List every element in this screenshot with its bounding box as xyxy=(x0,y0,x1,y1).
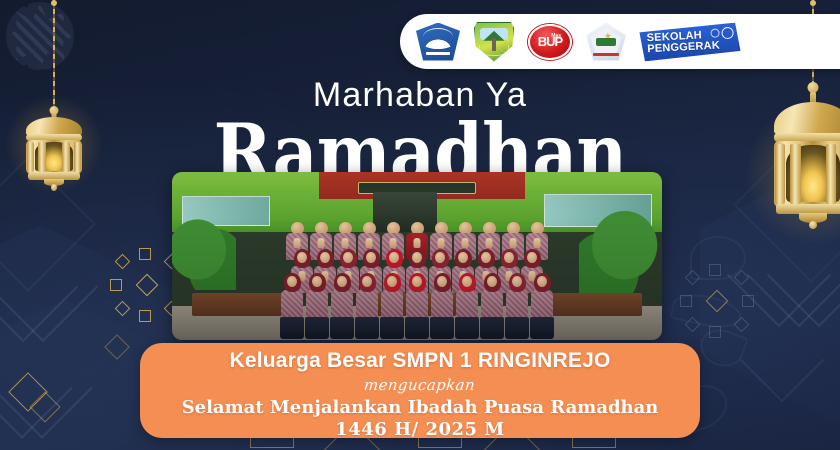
greeting-message-box: Keluarga Besar SMPN 1 RINGINREJO menguca… xyxy=(140,343,700,438)
greeting-line-school: Keluarga Besar SMPN 1 RINGINREJO xyxy=(229,348,610,374)
bg-gold-diamond-1 xyxy=(8,372,48,412)
bg-chevron-4 xyxy=(740,318,825,403)
islamic-star-motif-right xyxy=(678,262,756,340)
bg-chevron-6 xyxy=(0,232,98,342)
sekolah-penggerak-logo: SEKOLAH PENGGERAK xyxy=(639,22,741,61)
logo-bar: Mas BUP SEKOLAH PENGGERAK xyxy=(400,14,840,69)
kabupaten-logo xyxy=(474,22,514,62)
bg-chevron-2 xyxy=(747,223,840,328)
school-crest-logo xyxy=(586,23,626,61)
greeting-line-selamat: Selamat Menjalankan Ibadah Puasa Ramadha… xyxy=(182,397,659,420)
greeting-line-year: 1446 H/ 2025 M xyxy=(335,419,505,442)
group-photo xyxy=(172,172,662,340)
bg-chevron-3 xyxy=(767,223,840,328)
bg-chevron-7 xyxy=(0,337,73,439)
bg-soft-shape-3 xyxy=(670,289,745,333)
bg-gold-diamond-3 xyxy=(104,334,129,359)
greeting-line-mengucapkan: mengucapkan xyxy=(363,374,476,397)
bg-soft-shape-1 xyxy=(690,236,746,280)
bg-chevron-8 xyxy=(0,337,93,439)
tut-wuri-handayani-logo xyxy=(416,23,460,61)
title-block: Marhaban Ya Ramadhan xyxy=(0,78,840,184)
ramadhan-greeting-poster: Mas BUP SEKOLAH PENGGERAK Marhaban Ya Ra… xyxy=(0,0,840,450)
photo-vignette xyxy=(172,172,662,340)
bup-logo: Mas BUP xyxy=(528,24,572,60)
bg-chevron-5 xyxy=(0,232,78,342)
bg-chevron-1 xyxy=(727,223,832,328)
bg-soft-shape-2 xyxy=(695,324,749,373)
bg-gold-diamond-2 xyxy=(29,391,60,422)
bup-logo-sub: Mas xyxy=(551,33,561,39)
